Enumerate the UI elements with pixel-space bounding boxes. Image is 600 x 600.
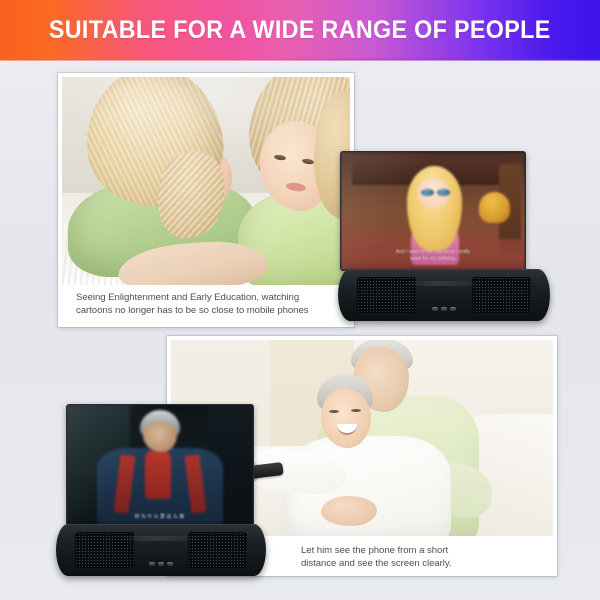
device-bottom: 你为什么要这么做	[56, 404, 266, 576]
kids-photo	[62, 77, 350, 285]
banner-underline	[0, 58, 600, 61]
woman-eye-left	[329, 410, 339, 413]
seniors-caption-line2: distance and see the screen clearly.	[301, 557, 553, 570]
actor-face	[143, 421, 176, 452]
actor-collar	[145, 451, 171, 499]
kids-caption: Seeing Enlightenment and Early Education…	[62, 285, 350, 317]
device-top-screen: And I want to tell you what I really wan…	[340, 151, 526, 271]
control-button-2[interactable]	[158, 562, 164, 566]
character-eye-left	[421, 189, 434, 196]
banner-title: SUITABLE FOR A WIDE RANGE OF PEOPLE	[49, 18, 551, 43]
device-logo	[119, 536, 203, 541]
device-top-subtitle: And I want to tell you what I really wan…	[352, 249, 514, 263]
scene-lamp	[479, 192, 510, 223]
device-top: And I want to tell you what I really wan…	[338, 151, 550, 321]
drama-scene	[67, 405, 253, 525]
device-logo	[402, 281, 487, 286]
device-bottom-subtitle: 你为什么要这么做	[100, 513, 219, 520]
control-button-1[interactable]	[149, 562, 155, 566]
control-button-3[interactable]	[450, 307, 456, 311]
control-button-2[interactable]	[441, 307, 447, 311]
photo-light-overlay	[62, 77, 350, 285]
control-button-1[interactable]	[432, 307, 438, 311]
kids-caption-line1: Seeing Enlightenment and Early Education…	[76, 291, 350, 304]
device-bottom-controls[interactable]	[149, 562, 173, 566]
character-eye-right	[437, 189, 450, 196]
device-top-subtitle-line2: want for my birthday	[352, 256, 514, 263]
device-top-subtitle-line1: And I want to tell you what I really	[352, 249, 514, 256]
header-banner: SUITABLE FOR A WIDE RANGE OF PEOPLE	[0, 0, 600, 60]
control-button-3[interactable]	[167, 562, 173, 566]
kids-caption-line2: cartoons no longer has to be so close to…	[76, 304, 350, 317]
device-bottom-base	[56, 524, 266, 576]
seniors-caption-line1: Let him see the phone from a short	[301, 544, 553, 557]
promo-page: SUITABLE FOR A WIDE RANGE OF PEOPLE Seei…	[0, 0, 600, 600]
woman-face	[321, 388, 371, 448]
device-bottom-screen: 你为什么要这么做	[66, 404, 254, 526]
woman-eye-right	[351, 409, 361, 412]
device-top-controls[interactable]	[432, 307, 456, 311]
clasped-hands	[321, 496, 377, 526]
kids-panel: Seeing Enlightenment and Early Education…	[58, 73, 354, 327]
device-top-base	[338, 269, 550, 321]
